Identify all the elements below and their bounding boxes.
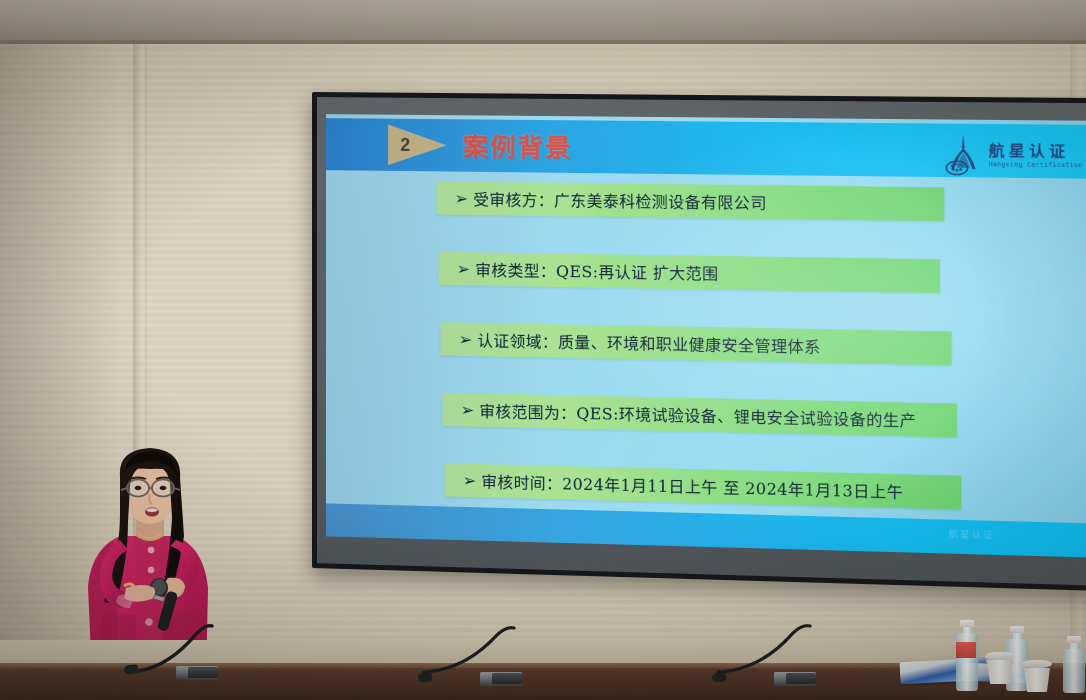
cup-body — [987, 660, 1013, 684]
bullet-arrow-icon: ➢ — [461, 400, 475, 419]
bullet-bar: ➢ 审核时间：2024年1月11日上午 至 2024年1月13日上午 — [445, 463, 962, 509]
cup-rim — [985, 652, 1015, 660]
bottle-body — [956, 633, 978, 691]
conference-room-scene: 2 案例背景 — [0, 0, 1086, 700]
bullet-arrow-icon: ➢ — [463, 471, 477, 490]
cup-body — [1024, 668, 1050, 692]
mic-base-body — [492, 673, 522, 684]
bullet-text: 审核类型：QES:再认证 扩大范围 — [475, 258, 718, 284]
company-logo: 航星认证 Hangxing Certification — [942, 132, 1086, 181]
bullet-bar: ➢ 认证领域：质量、环境和职业健康安全管理体系 — [440, 322, 951, 365]
mic-base-body — [786, 673, 816, 684]
mic-capsule — [418, 672, 433, 682]
presentation-slide: 2 案例背景 — [326, 114, 1086, 558]
bullet-bar: ➢ 审核类型：QES:再认证 扩大范围 — [438, 252, 940, 293]
mic-gooseneck-icon — [712, 620, 832, 678]
gooseneck-microphone — [120, 618, 230, 680]
slide-footer-text: 航星认证 — [948, 527, 995, 542]
slide-number-arrow-icon: 2 — [388, 123, 446, 168]
bottle-cap — [1067, 636, 1081, 643]
slide-bullet-list: ➢ 受审核方：广东美泰科检测设备有限公司 ➢ 审核类型：QES:再认证 扩大范围… — [326, 180, 1086, 516]
slide-title-bar: 2 案例背景 — [326, 118, 1086, 179]
water-bottle — [1062, 636, 1086, 693]
bullet-text: 认证领域：质量、环境和职业健康安全管理体系 — [477, 329, 820, 358]
logo-name-en: Hangxing Certification — [989, 162, 1083, 169]
gooseneck-microphone — [418, 622, 528, 684]
bullet-bar: ➢ 审核范围为：QES:环境试验设备、锂电安全试验设备的生产 — [443, 393, 957, 438]
mic-capsule — [712, 672, 727, 682]
bullet-text: 审核时间：2024年1月11日上午 至 2024年1月13日上午 — [481, 470, 903, 503]
bottle-cap — [960, 620, 974, 627]
screen-frame: 2 案例背景 — [312, 92, 1086, 591]
mic-capsule — [124, 664, 139, 674]
cup-rim — [1022, 660, 1052, 668]
gooseneck-microphone — [712, 620, 822, 682]
logo-tower-icon — [942, 134, 984, 178]
paper-cup — [1022, 660, 1052, 692]
logo-text-block: 航星认证 Hangxing Certification — [989, 144, 1083, 170]
bullet-arrow-icon: ➢ — [457, 259, 471, 278]
bullet-text: 审核范围为：QES:环境试验设备、锂电安全试验设备的生产 — [479, 399, 916, 431]
logo-name-cn: 航星认证 — [989, 144, 1083, 160]
slide-number: 2 — [400, 134, 410, 155]
bottle-body — [1063, 649, 1085, 693]
bullet-text: 受审核方：广东美泰科检测设备有限公司 — [473, 187, 767, 213]
bullet-bar: ➢ 受审核方：广东美泰科检测设备有限公司 — [436, 181, 944, 221]
bottle-cap — [1010, 626, 1024, 633]
projection-screen: 2 案例背景 — [312, 92, 1086, 591]
slide-title: 案例背景 — [463, 127, 573, 164]
water-bottle — [955, 620, 979, 691]
mic-base-body — [188, 667, 218, 678]
bottle-label — [956, 642, 976, 658]
bullet-arrow-icon: ➢ — [455, 189, 469, 208]
bullet-arrow-icon: ➢ — [459, 330, 473, 349]
paper-cup — [985, 652, 1015, 684]
